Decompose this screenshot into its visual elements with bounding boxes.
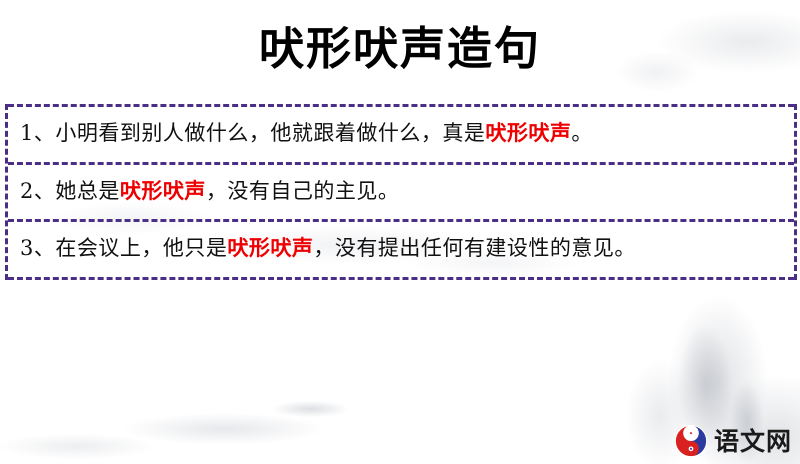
sentence-1: 1、小明看到别人做什么，他就跟着做什么，真是吠形吠声。 xyxy=(20,117,782,150)
table-row: 1、小明看到别人做什么，他就跟着做什么，真是吠形吠声。 xyxy=(8,107,794,162)
watermark-ink-boat xyxy=(80,385,400,464)
sentence-1-after: 。 xyxy=(571,121,593,145)
sentence-2-idiom: 吠形吠声 xyxy=(120,178,206,203)
sentence-3-after: ，没有提出任何有建设性的意见。 xyxy=(313,236,636,260)
table-row: 2、她总是吠形吠声，没有自己的主见。 xyxy=(8,165,794,220)
page-root: 吠形吠声造句 1、小明看到别人做什么，他就跟着做什么，真是吠形吠声。 2、她总是… xyxy=(0,0,800,464)
sentence-1-index: 1、 xyxy=(20,121,55,145)
sentence-1-before: 小明看到别人做什么，他就跟着做什么，真是 xyxy=(55,121,485,145)
sentence-2-index: 2、 xyxy=(20,179,55,203)
sentence-table: 1、小明看到别人做什么，他就跟着做什么，真是吠形吠声。 2、她总是吠形吠声，没有… xyxy=(5,104,797,280)
watermark-ink-bottom-left xyxy=(0,420,220,464)
site-logo-text: 语文网 xyxy=(714,429,792,454)
sentence-2: 2、她总是吠形吠声，没有自己的主见。 xyxy=(20,175,782,208)
yinyang-logo-icon xyxy=(674,424,708,458)
page-title: 吠形吠声造句 xyxy=(259,24,541,74)
sentence-2-after: ，没有自己的主见。 xyxy=(206,179,400,203)
sentence-3: 3、在会议上，他只是吠形吠声，没有提出任何有建设性的意见。 xyxy=(20,232,782,265)
sentence-3-index: 3、 xyxy=(20,236,55,260)
sentence-2-before: 她总是 xyxy=(55,179,120,203)
sentence-3-idiom: 吠形吠声 xyxy=(227,235,313,260)
table-row: 3、在会议上，他只是吠形吠声，没有提出任何有建设性的意见。 xyxy=(8,222,794,277)
table-rule-bottom xyxy=(8,277,794,280)
site-logo[interactable]: 语文网 xyxy=(674,424,792,458)
sentence-1-idiom: 吠形吠声 xyxy=(485,120,571,145)
sentence-3-before: 在会议上，他只是 xyxy=(55,236,227,260)
page-title-container: 吠形吠声造句 xyxy=(0,24,800,74)
